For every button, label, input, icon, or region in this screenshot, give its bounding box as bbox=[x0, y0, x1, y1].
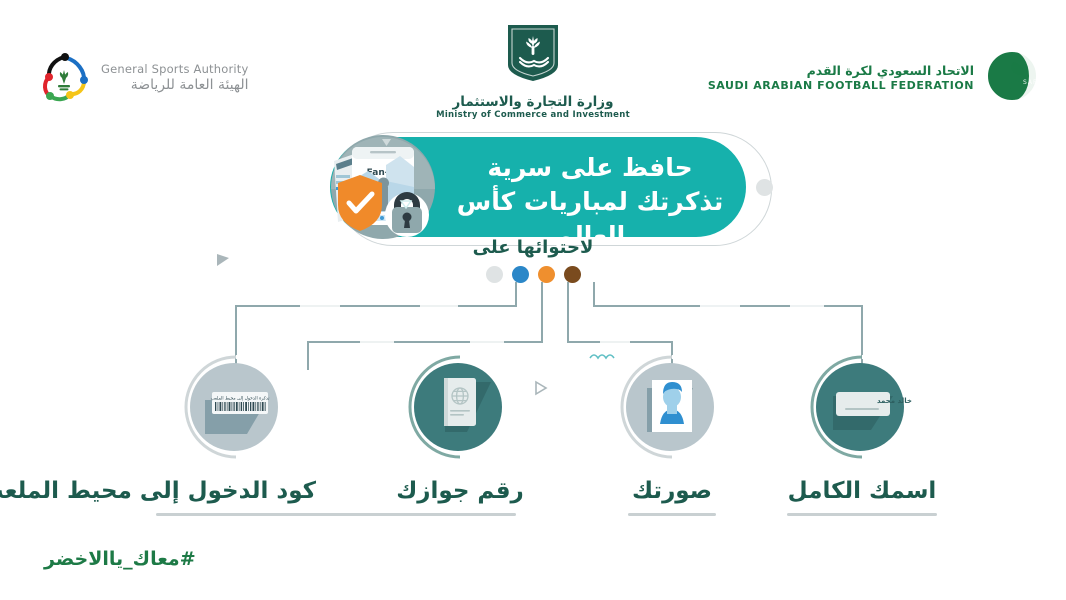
ticket-caption: تذكرة الدخول إلى محيط الملعب bbox=[211, 396, 271, 402]
hero-arc-dot bbox=[756, 179, 773, 196]
item-label-your-photo: صورتك bbox=[592, 478, 752, 504]
photo-circle bbox=[617, 352, 727, 462]
item-rule-full-name bbox=[787, 513, 937, 516]
decor-triangle-center bbox=[530, 378, 550, 398]
item-full-name: خالد محمد اسمك الكامل bbox=[782, 352, 942, 516]
saff-arabic-name: الاتحاد السعودي لكرة القدم bbox=[807, 63, 974, 79]
name-card-text: خالد محمد bbox=[877, 397, 912, 405]
item-rule-passport bbox=[404, 513, 516, 516]
item-rule-photo bbox=[628, 513, 716, 516]
full-name-circle: خالد محمد bbox=[807, 352, 917, 462]
item-entry-code: تذكرة الدخول إلى محيط الملعب كود الدخول … bbox=[156, 352, 316, 516]
logo-bar: General Sports Authority الهيئة العامة ل… bbox=[0, 0, 1066, 128]
saff-english-name: SAUDI ARABIAN FOOTBALL FEDERATION bbox=[708, 79, 974, 93]
fan-id-card-illustration: Fan-ID bbox=[324, 131, 442, 247]
moci-shield-icon bbox=[504, 22, 562, 88]
item-label-full-name: اسمك الكامل bbox=[782, 478, 942, 504]
item-label-passport-number: رقم جوازك bbox=[380, 478, 540, 504]
moci-arabic-name: وزارة التجارة والاستثمار bbox=[453, 94, 614, 110]
item-your-photo: صورتك bbox=[592, 352, 752, 516]
entry-code-circle: تذكرة الدخول إلى محيط الملعب bbox=[181, 352, 291, 462]
logo-saudi-football-federation: الاتحاد السعودي لكرة القدم SAUDI ARABIAN… bbox=[708, 48, 1040, 108]
decor-triangle-hero bbox=[398, 196, 414, 212]
item-label-entry-code: كود الدخول إلى محيط الملعب bbox=[156, 478, 316, 504]
decor-squiggle bbox=[588, 350, 622, 364]
hero-banner: حافظ على سرية تذكرتك لمباريات كأس العالم… bbox=[330, 137, 762, 241]
saff-badge-text: SAFF bbox=[1023, 79, 1040, 86]
decor-triangle-left bbox=[212, 252, 232, 272]
passport-circle bbox=[405, 352, 515, 462]
item-rule-entry-code bbox=[156, 513, 414, 516]
hashtag: #معاك_ياالاخضر bbox=[44, 548, 196, 570]
infographic-canvas: General Sports Authority الهيئة العامة ل… bbox=[0, 0, 1066, 600]
moci-english-name: Ministry of Commerce and Investment bbox=[436, 110, 630, 120]
subtitle: لاحتوائها على bbox=[0, 237, 1066, 258]
saff-globe-ball-icon: SAFF bbox=[984, 48, 1040, 108]
item-passport-number: رقم جوازك bbox=[380, 352, 540, 516]
